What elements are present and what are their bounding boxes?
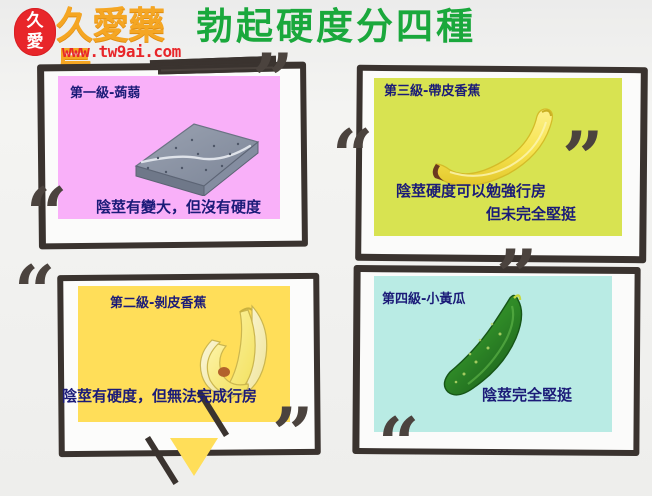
panel-1-caption: 陰莖有變大，但沒有硬度	[96, 198, 261, 217]
panel-3-title: 第三級-帶皮香蕉	[384, 84, 480, 99]
panel-3-quote-close-icon: ”	[562, 122, 603, 194]
brand-logo: 久 愛 久愛藥局 www.tw9ai.com	[8, 6, 183, 60]
seal-char-1: 久	[14, 8, 56, 30]
panel-3-quote-open-icon: “	[332, 120, 373, 192]
panel-4-quote-open-icon: “	[378, 408, 419, 480]
header: 久 愛 久愛藥局 www.tw9ai.com 勃起硬度分四種	[0, 0, 652, 60]
panel-2-quote-open-icon: “	[14, 256, 55, 328]
panel-2-speech-tail	[170, 438, 218, 476]
panel-1-title: 第一級-蒟蒻	[70, 86, 140, 101]
panel-4-quote-close-icon: ”	[496, 240, 537, 312]
konjac-block-icon	[118, 110, 266, 196]
panel-2-title: 第二級-剝皮香蕉	[110, 296, 206, 311]
panel-4-caption: 陰莖完全堅挺	[482, 386, 572, 405]
panel-2-quote-close-icon: ”	[272, 398, 313, 470]
seal-char-2: 愛	[14, 30, 56, 51]
panel-3-caption-line-2: 但未完全堅挺	[486, 205, 576, 224]
infographic-canvas: 久 愛 久愛藥局 www.tw9ai.com 勃起硬度分四種	[0, 0, 652, 496]
panel-1-quote-close-icon: ”	[252, 44, 293, 116]
banana-skin-on-icon	[420, 104, 570, 192]
panel-2-caption: 陰莖有硬度，但無法完成行房	[62, 387, 257, 406]
panel-1-quote-open-icon: “	[26, 178, 67, 250]
page-title: 勃起硬度分四種	[196, 4, 476, 50]
panel-3-caption-line-1: 陰莖硬度可以勉強行房	[396, 182, 546, 201]
brand-url: www.tw9ai.com	[62, 44, 181, 60]
seal-icon: 久 愛	[14, 8, 56, 56]
panel-4-title: 第四級-小黃瓜	[382, 292, 465, 307]
